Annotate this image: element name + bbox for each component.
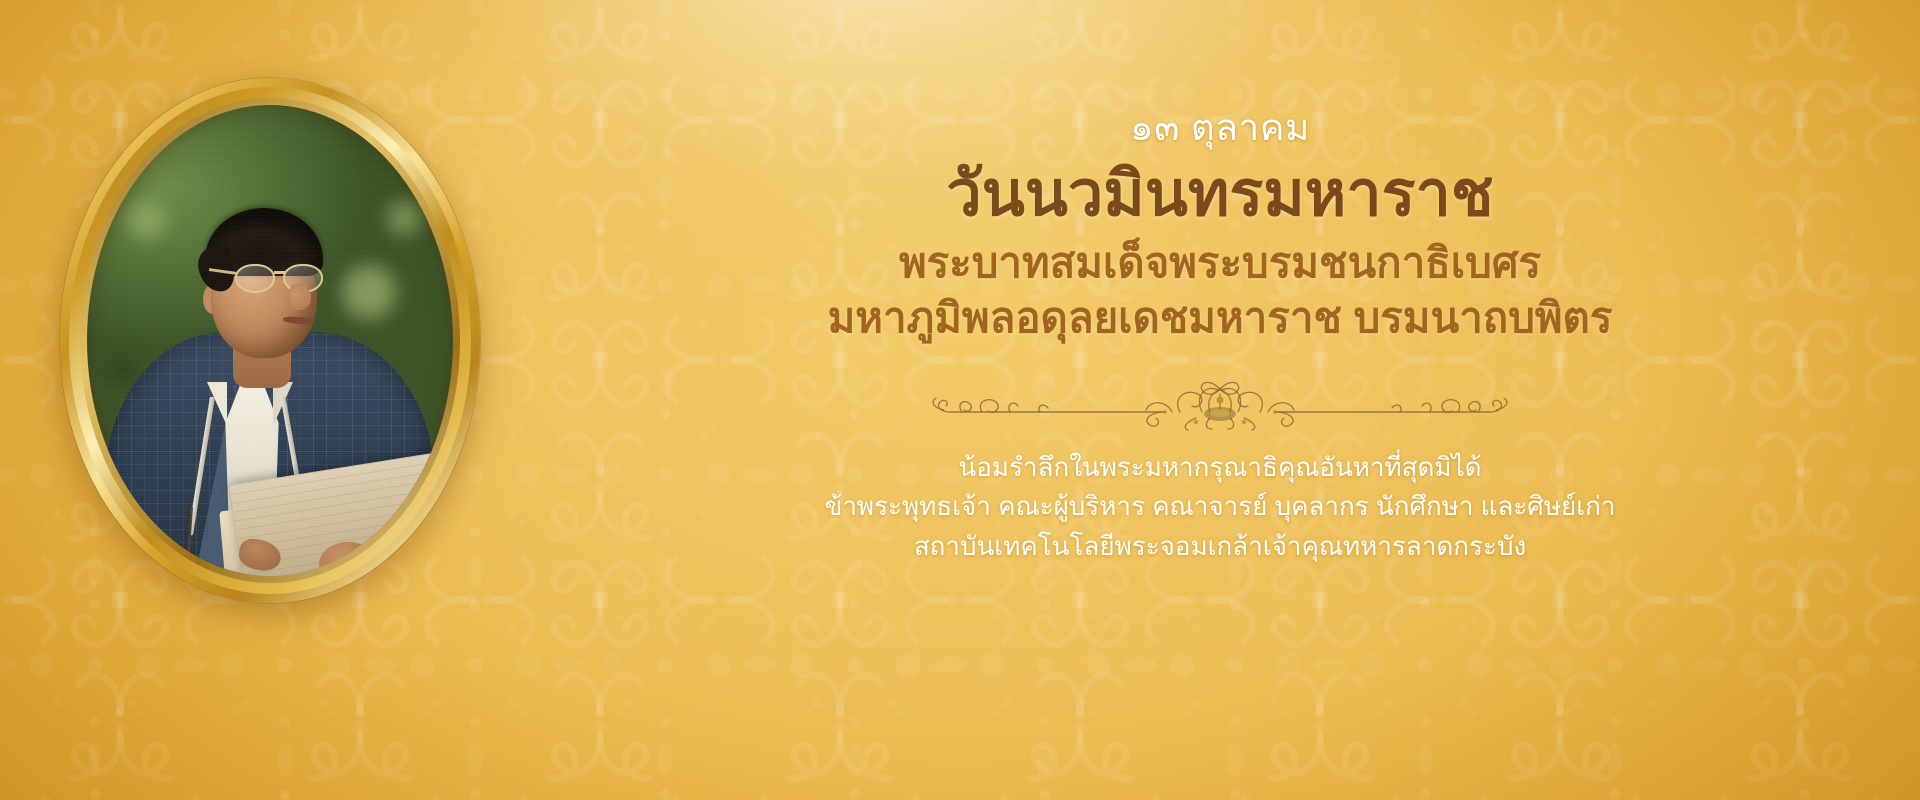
bokeh-highlight xyxy=(127,201,167,241)
floral-ornament-divider xyxy=(910,370,1530,432)
royal-commemorative-banner: ๑๓ ตุลาคม วันนวมินทรมหาราช พระบาทสมเด็จพ… xyxy=(0,0,1920,800)
page-title: วันนวมินทรมหาราช xyxy=(946,157,1493,231)
commemoration-date: ๑๓ ตุลาคม xyxy=(1130,108,1310,149)
eyeglass-lens-left xyxy=(235,264,275,293)
bokeh-highlight xyxy=(342,265,396,319)
dedication-line-3: สถาบันเทคโนโลยีพระจอมเกล้าเจ้าคุณทหารลาด… xyxy=(825,527,1616,567)
portrait-frame xyxy=(60,78,480,603)
dedication-line-2: ข้าพระพุทธเจ้า คณะผู้บริหาร คณาจารย์ บุค… xyxy=(825,487,1616,527)
portrait-eyeglasses xyxy=(235,264,327,294)
royal-title-line-1: พระบาทสมเด็จพระบรมชนกาธิเบศร xyxy=(899,235,1541,290)
dedication-line-1: น้อมรำลึกในพระมหากรุณาธิคุณอันหาที่สุดมิ… xyxy=(825,448,1616,488)
portrait-nose xyxy=(289,284,311,310)
dedication-text: น้อมรำลึกในพระมหากรุณาธิคุณอันหาที่สุดมิ… xyxy=(825,448,1616,567)
bokeh-highlight xyxy=(107,355,137,385)
eyeglass-bridge xyxy=(274,271,285,274)
bokeh-highlight xyxy=(387,201,421,235)
royal-portrait-photo xyxy=(87,105,453,576)
banner-text-column: ๑๓ ตุลาคม วันนวมินทรมหาราช พระบาทสมเด็จพ… xyxy=(520,0,1920,800)
royal-title-line-2: มหาภูมิพลอดุลยเดชมหาราช บรมนาถบพิตร xyxy=(828,290,1613,345)
